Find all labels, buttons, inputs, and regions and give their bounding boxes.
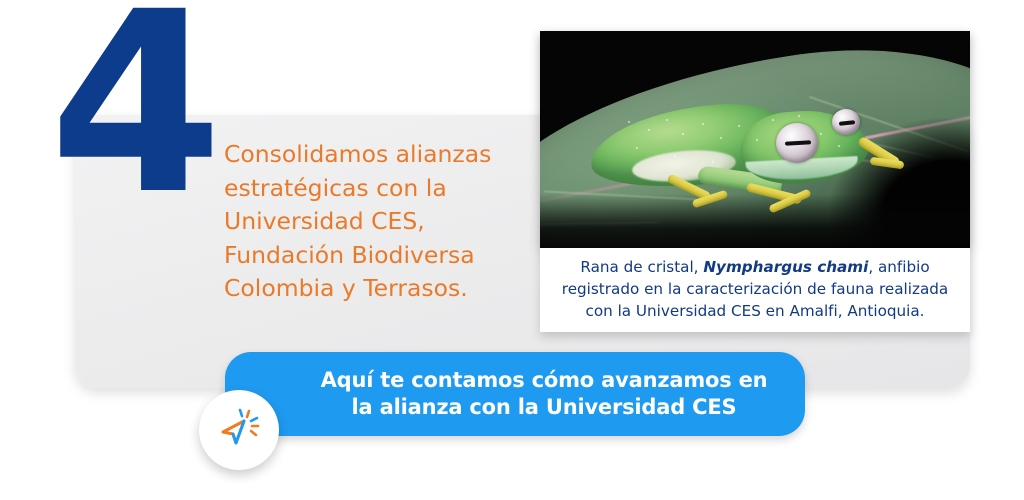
click-ray: [247, 411, 249, 417]
cta-button[interactable]: Aquí te contamos cómo avanzamos en la al…: [225, 352, 805, 436]
click-ray: [251, 431, 256, 435]
infographic-slide: 4 Consolidamos alianzas estratégicas con…: [0, 0, 1024, 500]
species-name: Nymphargus chami: [703, 258, 868, 276]
photo-caption-container: Rana de cristal, Nymphargus chami, anfib…: [540, 248, 970, 332]
headline-text: Consolidamos alianzas estratégicas con l…: [224, 138, 524, 306]
glass-frog-photo: [540, 31, 970, 248]
click-ray: [251, 418, 257, 421]
photo-caption: Rana de cristal, Nymphargus chami, anfib…: [546, 256, 964, 322]
click-ray: [240, 410, 242, 416]
step-number: 4: [28, 0, 238, 211]
cursor-click-icon[interactable]: [199, 390, 279, 470]
caption-before: Rana de cristal,: [580, 258, 703, 276]
glass-frog: [570, 103, 890, 213]
photo-canvas: [540, 31, 970, 248]
